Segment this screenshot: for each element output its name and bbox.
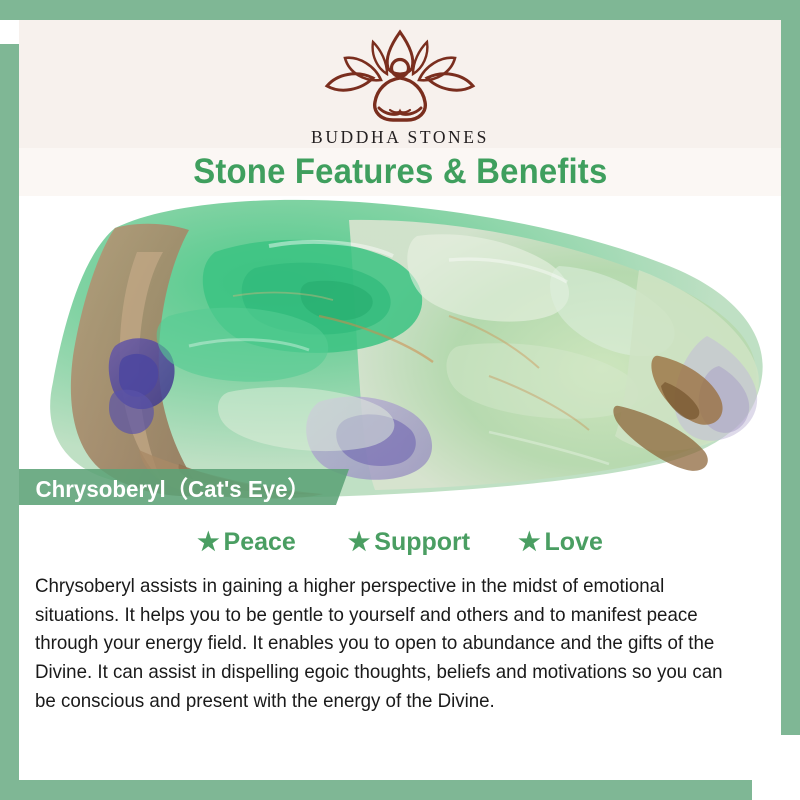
benefits-row: ★ Peace ★ Support ★ Love xyxy=(19,528,781,557)
benefit-item-peace: ★ Peace xyxy=(197,528,296,557)
content-card: BUDDHA STONES Stone Features & Benefits xyxy=(19,20,781,780)
star-icon: ★ xyxy=(197,530,219,555)
benefit-label: Support xyxy=(374,528,470,557)
benefit-item-support: ★ Support xyxy=(348,528,470,557)
title-banner: Stone Features & Benefits xyxy=(19,148,781,196)
stone-description: Chrysoberyl assists in gaining a higher … xyxy=(35,572,738,716)
benefit-item-love: ★ Love xyxy=(518,528,603,557)
benefit-label: Peace xyxy=(224,528,296,557)
lotus-meditation-icon xyxy=(19,28,781,126)
star-icon: ★ xyxy=(518,530,540,555)
star-icon: ★ xyxy=(348,530,370,555)
page-title: Stone Features & Benefits xyxy=(193,152,607,192)
content-section: ★ Peace ★ Support ★ Love Chrysoberyl ass… xyxy=(19,506,781,780)
infographic-page: BUDDHA STONES Stone Features & Benefits xyxy=(0,0,800,800)
frame-band-bottom xyxy=(0,779,752,800)
stone-name: Chrysoberyl（Cat's Eye） xyxy=(19,470,310,504)
frame-band-top xyxy=(0,0,800,20)
frame-band-right xyxy=(781,0,800,735)
stone-name-banner: Chrysoberyl（Cat's Eye） xyxy=(19,469,349,505)
benefit-label: Love xyxy=(545,528,603,557)
brand-name: BUDDHA STONES xyxy=(19,127,781,148)
stone-photo xyxy=(19,196,781,506)
frame-band-left xyxy=(0,44,19,800)
logo-block: BUDDHA STONES xyxy=(19,28,781,148)
